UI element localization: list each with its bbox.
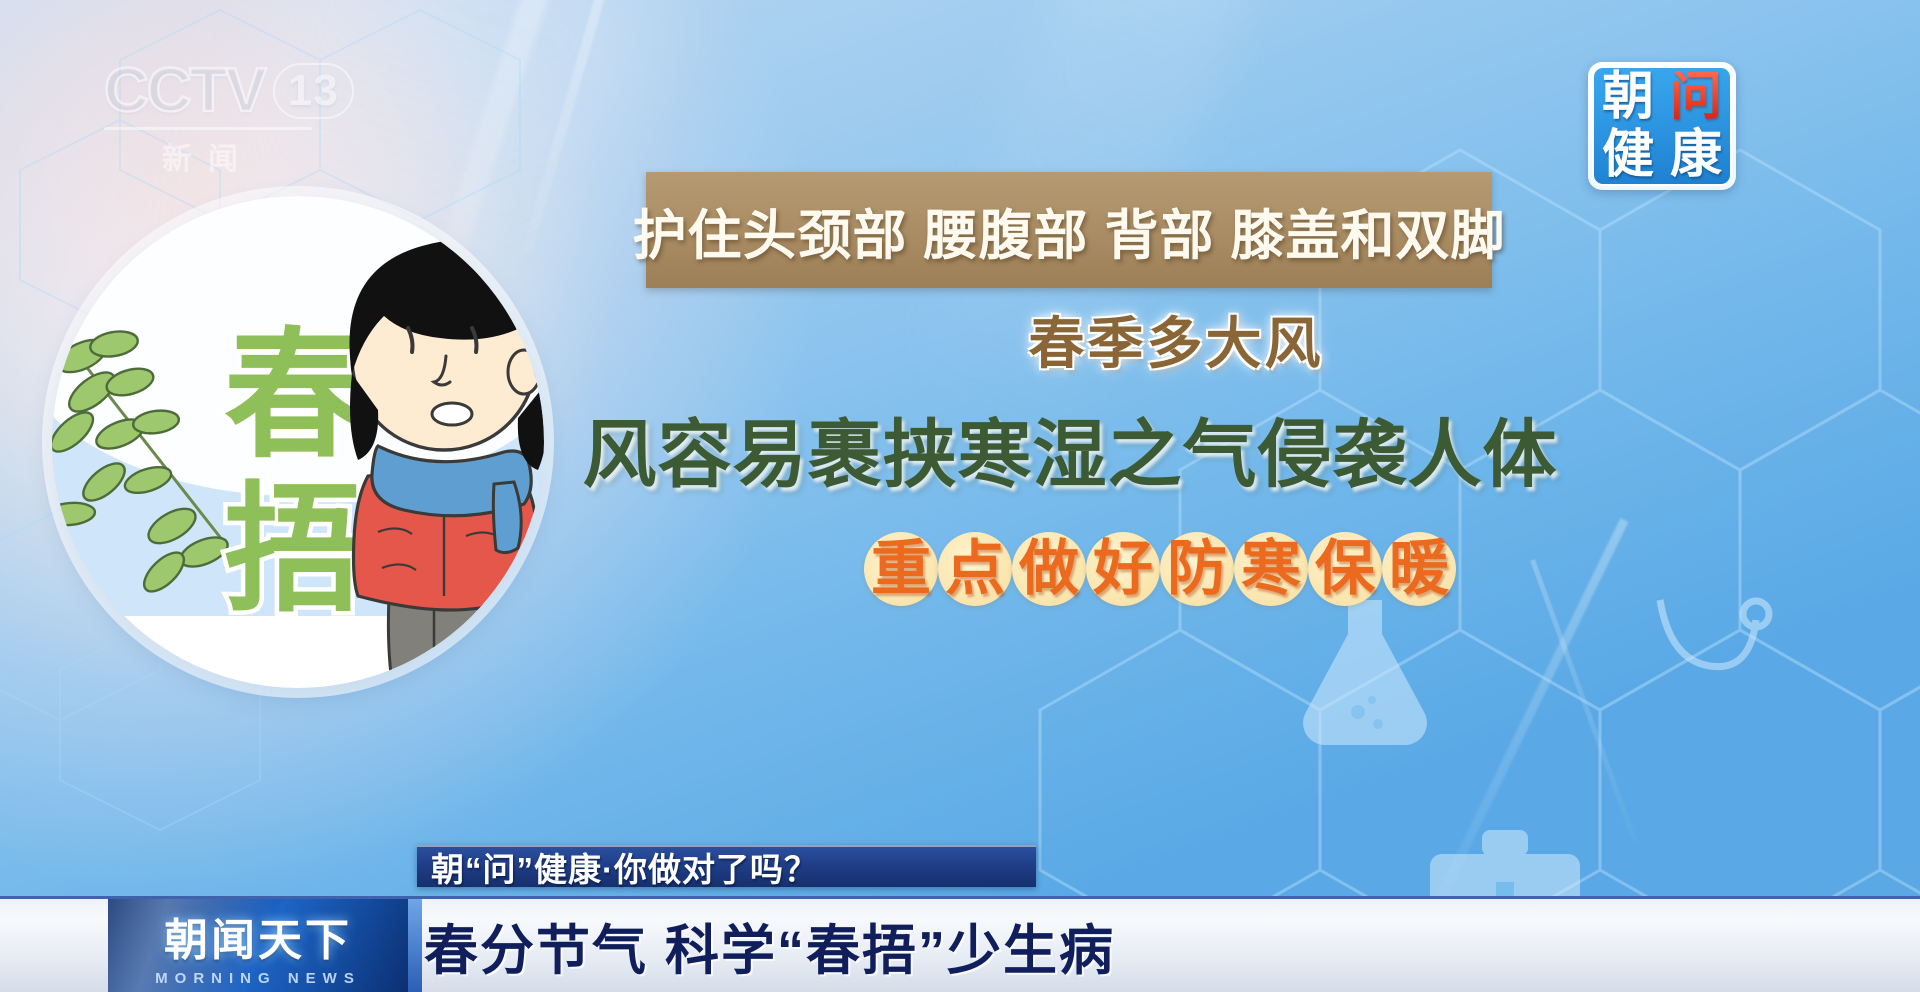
key-point-banner-text: 护住头颈部 腰腹部 背部 膝盖和双脚 <box>633 191 1506 270</box>
highlight-char-text: 点 <box>945 539 1005 599</box>
program-brand-cn: 朝闻天下 <box>164 904 352 968</box>
program-logo-char-1: 朝 <box>1602 71 1654 123</box>
program-logo-char-4: 康 <box>1670 129 1722 181</box>
headline-block: 春分节气 科学“春捂”少生病 <box>424 899 1115 992</box>
program-logo-inner: 朝 问 健 康 <box>1592 66 1732 186</box>
illustration-art: 春 捂 <box>52 196 544 688</box>
green-headline-row: 风容易裹挟寒湿之气侵袭人体 <box>560 396 1580 500</box>
green-headline-text: 风容易裹挟寒湿之气侵袭人体 <box>583 395 1558 502</box>
illustration-char-2: 捂 <box>224 471 364 628</box>
highlight-char-text: 好 <box>1093 539 1153 599</box>
highlight-char: 暖 <box>1380 530 1458 608</box>
highlight-char-text: 暖 <box>1389 539 1449 599</box>
topic-strip: 朝“问”健康·你做对了吗？ <box>417 845 1036 887</box>
highlight-char-text: 做 <box>1019 539 1079 599</box>
program-logo-char-2: 问 <box>1670 71 1722 123</box>
highlight-char-text: 寒 <box>1241 539 1301 599</box>
cctv-logo-subtitle: 新闻 <box>104 134 312 178</box>
cctv-channel-logo: CCTV 13 新闻 <box>104 58 324 166</box>
key-point-banner: 护住头颈部 腰腹部 背部 膝盖和双脚 <box>646 172 1492 288</box>
highlight-char: 重 <box>862 530 940 608</box>
highlight-char: 保 <box>1306 530 1384 608</box>
cctv-logo-mark: CCTV 13 <box>104 58 324 124</box>
highlight-char: 点 <box>936 530 1014 608</box>
highlight-char: 防 <box>1158 530 1236 608</box>
broadcast-screen: CCTV 13 新闻 朝 问 健 康 <box>0 0 1920 992</box>
program-logo: 朝 问 健 康 <box>1588 62 1736 190</box>
highlight-char-text: 保 <box>1315 539 1375 599</box>
light-beam-2 <box>522 0 650 255</box>
highlight-char-text: 重 <box>871 539 931 599</box>
highlight-char: 好 <box>1084 530 1162 608</box>
stethoscope-icon <box>1660 600 1769 667</box>
subline-text: 春季多大风 <box>1029 299 1324 380</box>
highlight-char-text: 防 <box>1167 539 1227 599</box>
cctv-logo-text: CCTV <box>104 58 265 124</box>
illustration-char-1: 春 <box>224 317 364 474</box>
subline-row: 春季多大风 <box>860 300 1492 378</box>
highlight-char: 寒 <box>1232 530 1310 608</box>
flask-icon <box>1303 600 1427 745</box>
topic-strip-text: 朝“问”健康·你做对了吗？ <box>431 843 818 891</box>
cctv-channel-number: 13 <box>273 63 354 119</box>
program-brand-en: MORNING NEWS <box>155 970 361 987</box>
program-logo-char-3: 健 <box>1602 129 1654 181</box>
cctv-logo-rule <box>104 127 312 130</box>
highlight-row: 重 点 做 好 防 寒 保 暖 <box>760 522 1560 616</box>
highlight-char: 做 <box>1010 530 1088 608</box>
illustration-circle: 春 捂 <box>52 196 544 688</box>
headline-text: 春分节气 科学“春捂”少生病 <box>424 906 1115 985</box>
lower-third-accent <box>408 899 422 992</box>
program-brand-block: 朝闻天下 MORNING NEWS <box>108 899 408 992</box>
